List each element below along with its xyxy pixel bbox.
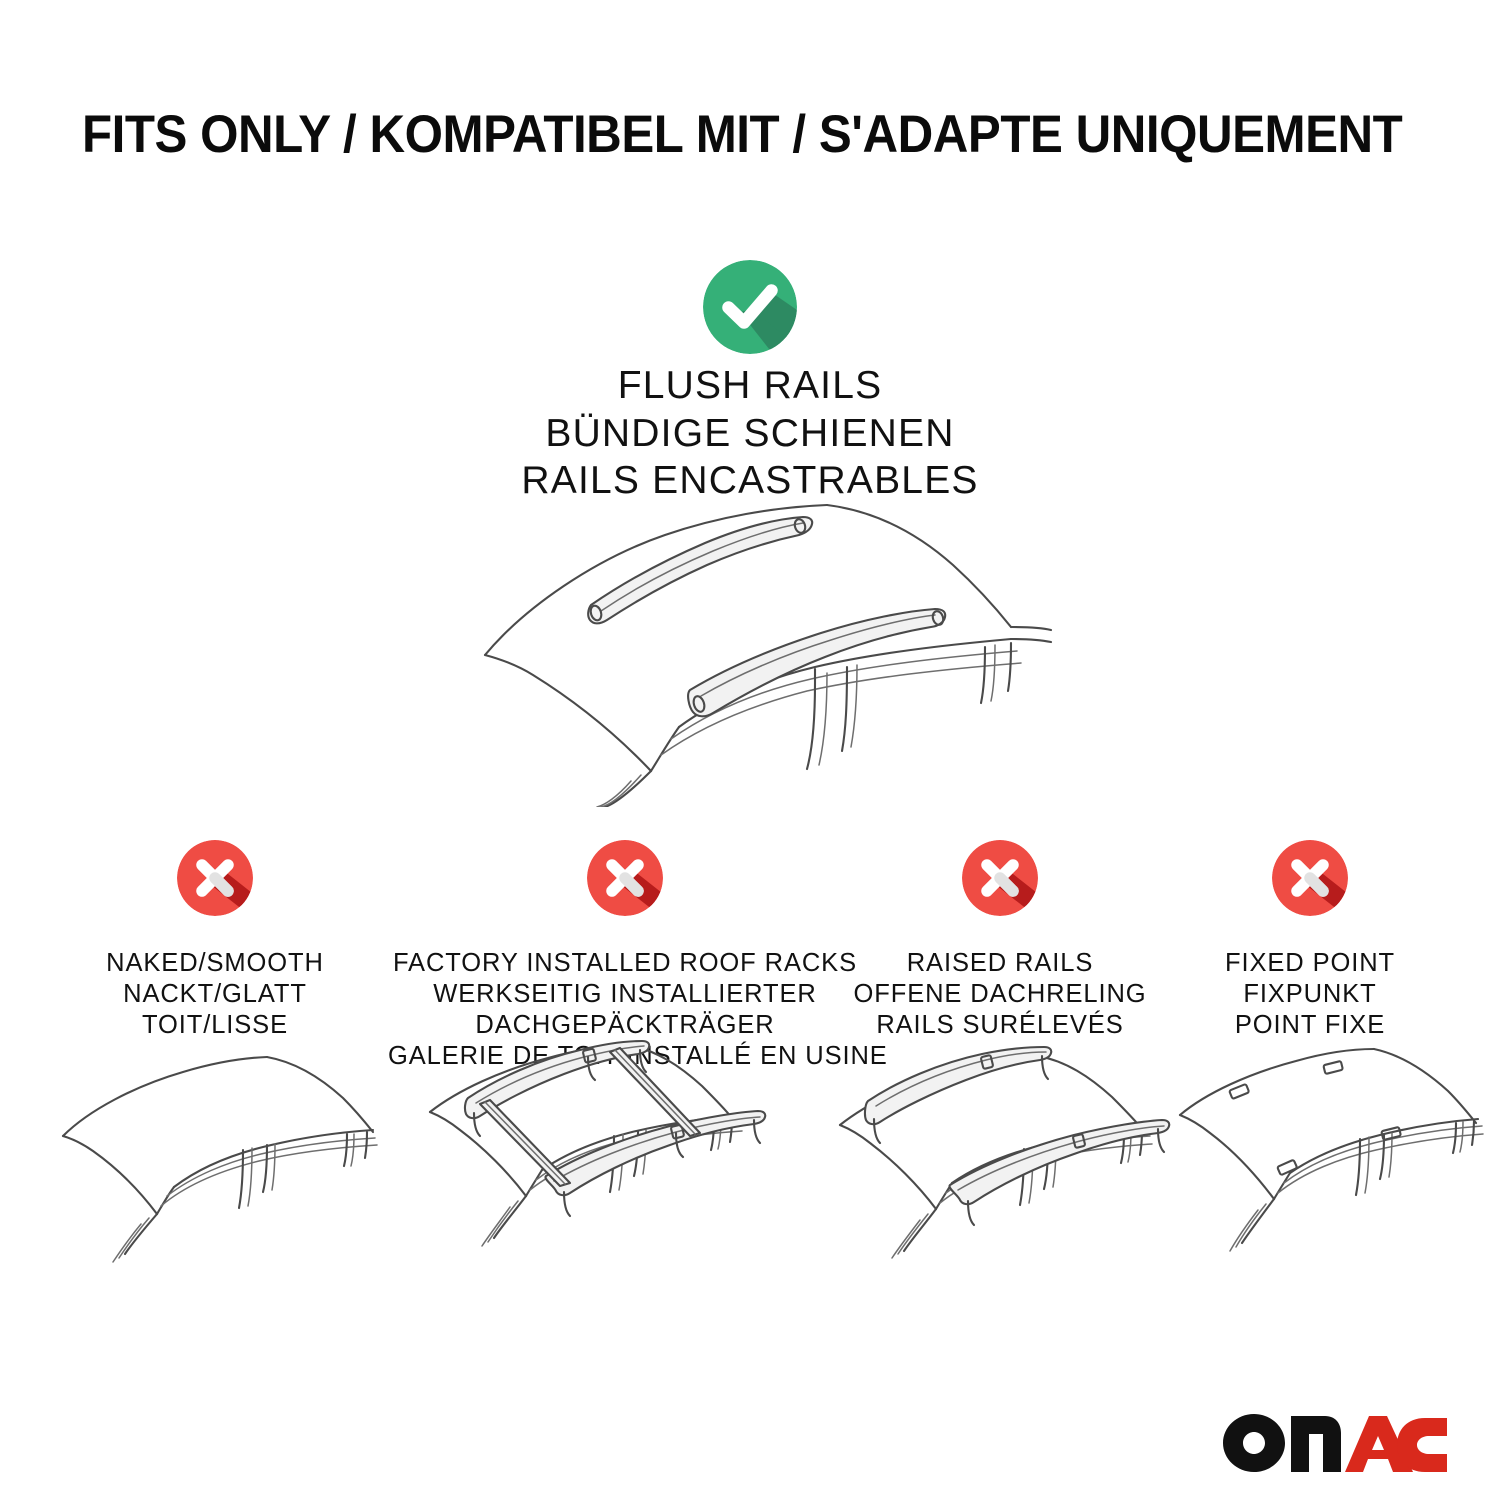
label-line-de-1: WERKSEITIG INSTALLIERTER (388, 979, 862, 1010)
compatible-caption-line-de: BÜNDIGE SCHIENEN (0, 410, 1500, 458)
label-line-en: RAISED RAILS (830, 948, 1170, 979)
label-line-fr: POINT FIXE (1160, 1010, 1460, 1041)
label-line-en: FIXED POINT (1160, 948, 1460, 979)
incompatible-label-raised-rails: RAISED RAILS OFFENE DACHRELING RAILS SUR… (830, 948, 1170, 1041)
cross-icon (1272, 840, 1348, 916)
car-roof-flush-rails-illustration (455, 487, 1055, 807)
car-roof-fixed-point-illustration (1172, 1045, 1484, 1267)
label-line-fr: RAILS SURÉLEVÉS (830, 1010, 1170, 1041)
label-line-en: NAKED/SMOOTH (35, 948, 395, 979)
cross-icon (962, 840, 1038, 916)
page-title: FITS ONLY / KOMPATIBEL MIT / S'ADAPTE UN… (82, 104, 1347, 165)
label-line-de: FIXPUNKT (1160, 979, 1460, 1010)
label-line-de: NACKT/GLATT (35, 979, 395, 1010)
incompatible-label-fixed-point: FIXED POINT FIXPUNKT POINT FIXE (1160, 948, 1460, 1041)
omac-logo (1221, 1412, 1449, 1474)
compatible-caption: FLUSH RAILS BÜNDIGE SCHIENEN RAILS ENCAS… (0, 362, 1500, 505)
cross-icon (587, 840, 663, 916)
label-line-en: FACTORY INSTALLED ROOF RACKS (388, 948, 862, 979)
label-line-fr: TOIT/LISSE (35, 1010, 395, 1041)
cross-icon (177, 840, 253, 916)
car-roof-naked-smooth-illustration (55, 1048, 385, 1268)
infographic-page: FITS ONLY / KOMPATIBEL MIT / S'ADAPTE UN… (0, 0, 1500, 1500)
incompatible-label-naked-smooth: NAKED/SMOOTH NACKT/GLATT TOIT/LISSE (35, 948, 395, 1041)
car-roof-raised-rails-illustration (830, 1045, 1178, 1267)
label-line-de: OFFENE DACHRELING (830, 979, 1170, 1010)
car-roof-factory-roof-racks-illustration (418, 1036, 776, 1262)
check-icon (703, 260, 797, 354)
compatible-caption-line-en: FLUSH RAILS (0, 362, 1500, 410)
